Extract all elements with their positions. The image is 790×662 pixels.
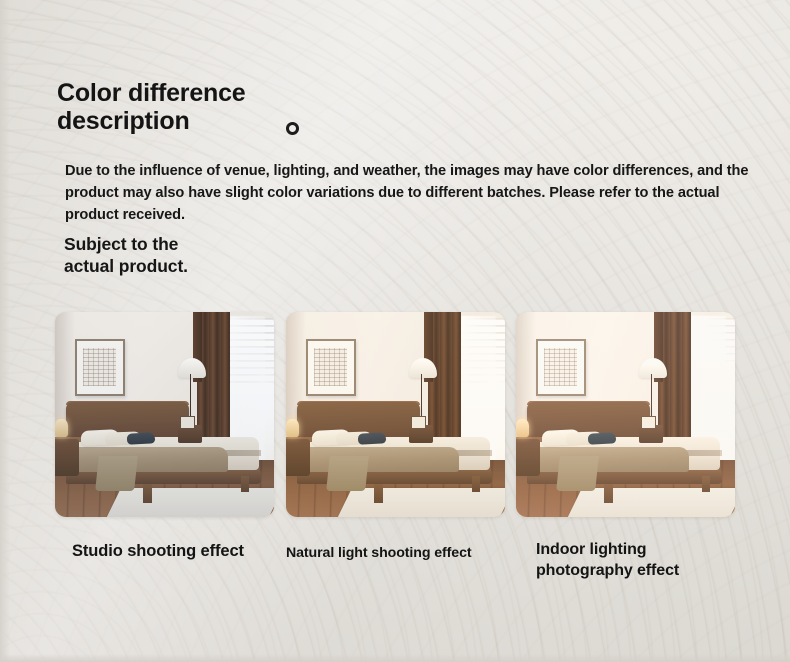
caption-natural-light: Natural light shooting effect — [286, 545, 471, 561]
small-photo-frame — [180, 416, 195, 429]
wall-art-canvas — [544, 348, 577, 386]
nightstand-left — [55, 439, 79, 476]
nightstand-left — [286, 439, 310, 476]
wall-art-canvas — [83, 348, 116, 386]
table-lamp — [55, 419, 68, 437]
bed-leg-right — [241, 476, 249, 492]
wall-art-frame — [75, 339, 125, 396]
page-title-line-1: Color difference — [57, 79, 246, 107]
nightstand-left — [516, 439, 540, 476]
caption-indoor-lighting: Indoor lighting photography effect — [536, 540, 736, 582]
subject-note-line-2: actual product. — [64, 256, 394, 278]
bedroom-scene-studio — [55, 312, 274, 517]
bed-leg-front — [604, 484, 613, 502]
bed-leg-front — [374, 484, 383, 502]
small-photo-frame — [411, 416, 426, 429]
photo-indoor-lighting[interactable] — [516, 312, 735, 517]
bed-leg-right — [702, 476, 710, 492]
accent-cushion — [358, 432, 387, 445]
blanket-drape — [326, 456, 369, 491]
wall-art-canvas — [314, 348, 347, 386]
small-photo-frame — [641, 416, 656, 429]
subject-note-line-1: Subject to the — [64, 234, 178, 254]
bed-blanket — [70, 447, 228, 472]
caption-studio: Studio shooting effect — [72, 542, 244, 561]
disclaimer-paragraph: Due to the influence of venue, lighting,… — [65, 160, 755, 227]
bedroom-scene-natural — [286, 312, 505, 517]
area-rug — [564, 488, 735, 517]
subject-note: Subject to the actual product. — [64, 234, 394, 278]
area-rug — [103, 488, 274, 517]
photo-natural-light[interactable] — [286, 312, 505, 517]
bed-leg-front — [143, 484, 152, 502]
photo-studio[interactable] — [55, 312, 274, 517]
accent-cushion — [127, 432, 156, 445]
table-lamp — [516, 419, 529, 437]
wall-art-frame — [536, 339, 586, 396]
circle-outline-icon — [286, 122, 299, 135]
blanket-drape — [95, 456, 138, 491]
caption-indoor-lighting-line-2: photography effect — [536, 561, 736, 582]
caption-indoor-lighting-line-1: Indoor lighting — [536, 541, 646, 558]
area-rug — [334, 488, 505, 517]
bedroom-scene-indoor — [516, 312, 735, 517]
bed-leg-right — [472, 476, 480, 492]
accent-cushion — [588, 432, 617, 445]
page-title: Color difference description — [57, 79, 387, 135]
bed-blanket — [531, 447, 689, 472]
bed-blanket — [301, 447, 459, 472]
color-difference-panel: Color difference description Due to the … — [0, 0, 790, 662]
wall-art-frame — [306, 339, 356, 396]
blanket-drape — [556, 456, 599, 491]
table-lamp — [286, 419, 299, 437]
page-title-line-2: description — [57, 107, 387, 135]
